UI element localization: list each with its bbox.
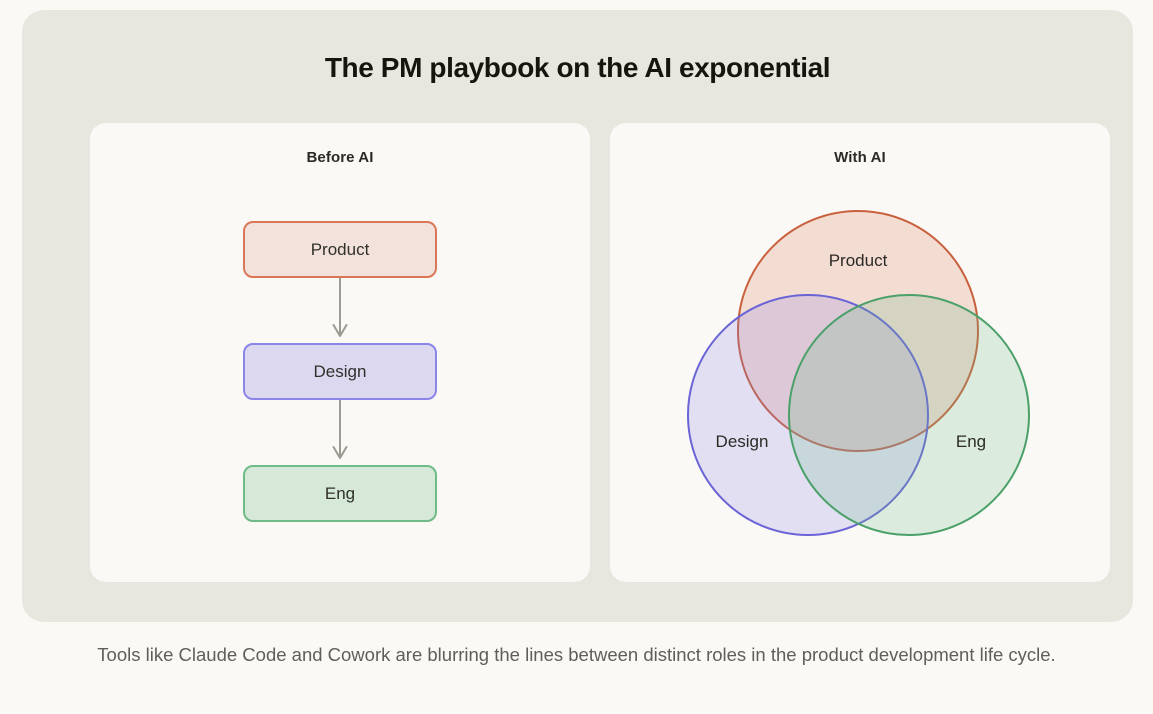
venn-diagram: Product Design Eng xyxy=(610,123,1110,582)
flow-arrow-product-to-design xyxy=(331,278,349,344)
venn-label-eng: Eng xyxy=(956,432,986,452)
venn-label-product: Product xyxy=(829,251,888,271)
flowchart: Product Design Eng xyxy=(90,123,590,582)
figure-panel: The PM playbook on the AI exponential Be… xyxy=(22,10,1133,622)
figure-caption: Tools like Claude Code and Cowork are bl… xyxy=(40,640,1113,670)
figure-root: The PM playbook on the AI exponential Be… xyxy=(0,0,1153,714)
page-title: The PM playbook on the AI exponential xyxy=(22,52,1133,84)
flow-node-label: Product xyxy=(311,240,370,260)
venn-svg xyxy=(610,123,1110,582)
venn-label-design: Design xyxy=(716,432,769,452)
flow-node-label: Eng xyxy=(325,484,355,504)
flow-node-label: Design xyxy=(314,362,367,382)
flow-node-eng[interactable]: Eng xyxy=(243,465,437,522)
panel-with-ai: With AI Product Design Eng xyxy=(610,123,1110,582)
flow-node-product[interactable]: Product xyxy=(243,221,437,278)
flow-node-design[interactable]: Design xyxy=(243,343,437,400)
flow-arrow-design-to-eng xyxy=(331,400,349,466)
venn-circle-eng[interactable] xyxy=(789,295,1029,535)
panel-before-ai: Before AI Product Design Eng xyxy=(90,123,590,582)
